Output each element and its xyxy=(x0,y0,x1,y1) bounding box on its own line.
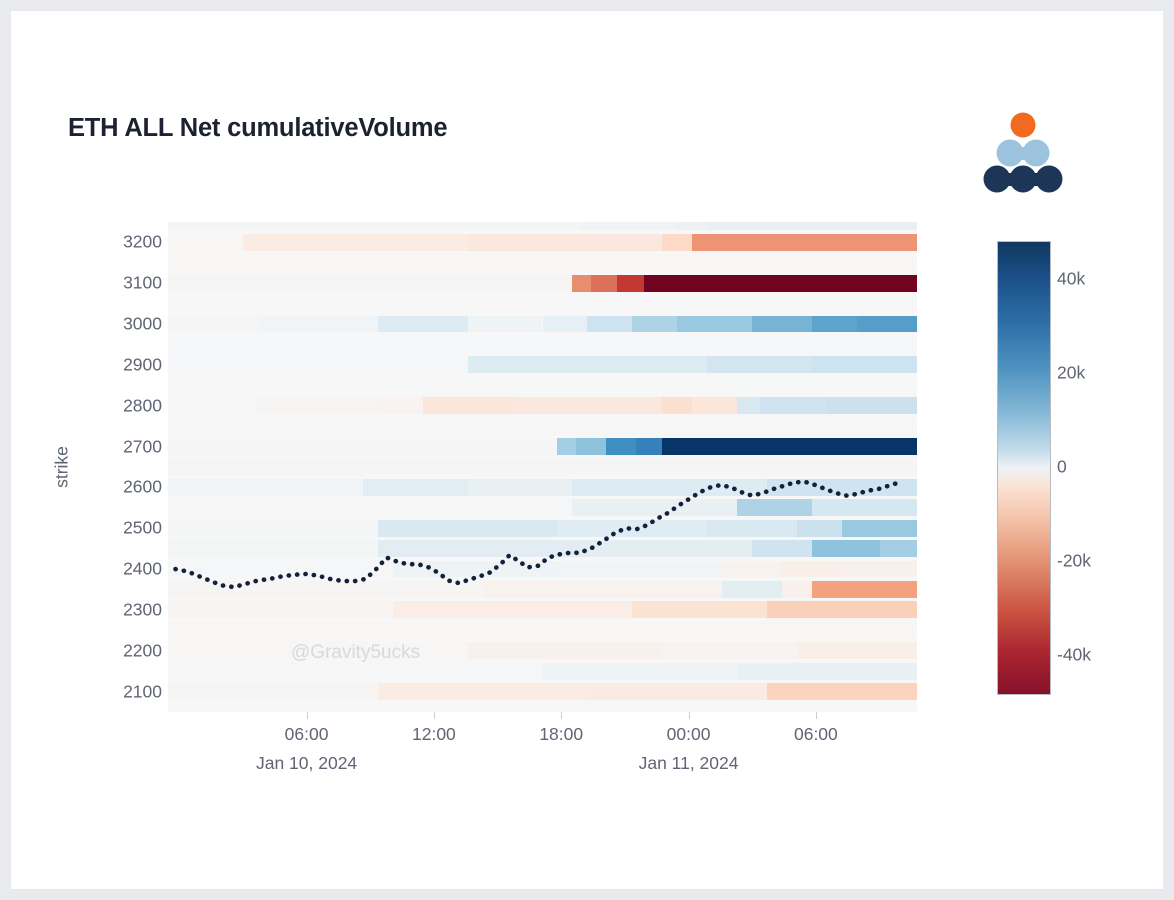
y-axis: 3200310030002900280027002600250024002300… xyxy=(11,11,1163,889)
y-axis-tick: 2800 xyxy=(116,395,162,416)
y-axis-tick: 2200 xyxy=(116,640,162,661)
colorbar-tick: 20k xyxy=(1057,362,1085,383)
x-axis-tick: 00:00 xyxy=(667,724,711,745)
x-axis-tick: 12:00 xyxy=(412,724,456,745)
y-axis-tick: 3100 xyxy=(116,273,162,294)
x-axis-tick: 18:00 xyxy=(539,724,583,745)
y-axis-tick: 2400 xyxy=(116,559,162,580)
x-axis-tick: 06:00 xyxy=(794,724,838,745)
y-axis-tick: 2600 xyxy=(116,477,162,498)
x-axis-date-label: Jan 10, 2024 xyxy=(256,753,357,774)
y-axis-title: strike xyxy=(52,446,73,488)
x-axis-tick: 06:00 xyxy=(285,724,329,745)
y-axis-tick: 2900 xyxy=(116,354,162,375)
y-axis-tick: 3000 xyxy=(116,314,162,335)
y-axis-tick: 2100 xyxy=(116,681,162,702)
chart-card: ETH ALL Net cumulativeVolume @Gravity5uc… xyxy=(11,11,1163,889)
x-axis-tick-mark xyxy=(561,712,562,719)
colorbar-tick: 0 xyxy=(1057,457,1067,478)
x-axis-date-label: Jan 11, 2024 xyxy=(639,753,739,774)
colorbar-tick: 40k xyxy=(1057,268,1085,289)
colorbar-tick: -20k xyxy=(1057,551,1091,572)
x-axis-tick-mark xyxy=(689,712,690,719)
y-axis-tick: 2300 xyxy=(116,599,162,620)
x-axis-tick-mark xyxy=(434,712,435,719)
colorbar-tick: -40k xyxy=(1057,645,1091,666)
y-axis-tick: 2500 xyxy=(116,518,162,539)
y-axis-tick: 3200 xyxy=(116,232,162,253)
x-axis-tick-mark xyxy=(816,712,817,719)
x-axis-tick-mark xyxy=(307,712,308,719)
y-axis-tick: 2700 xyxy=(116,436,162,457)
colorbar[interactable] xyxy=(997,241,1051,695)
